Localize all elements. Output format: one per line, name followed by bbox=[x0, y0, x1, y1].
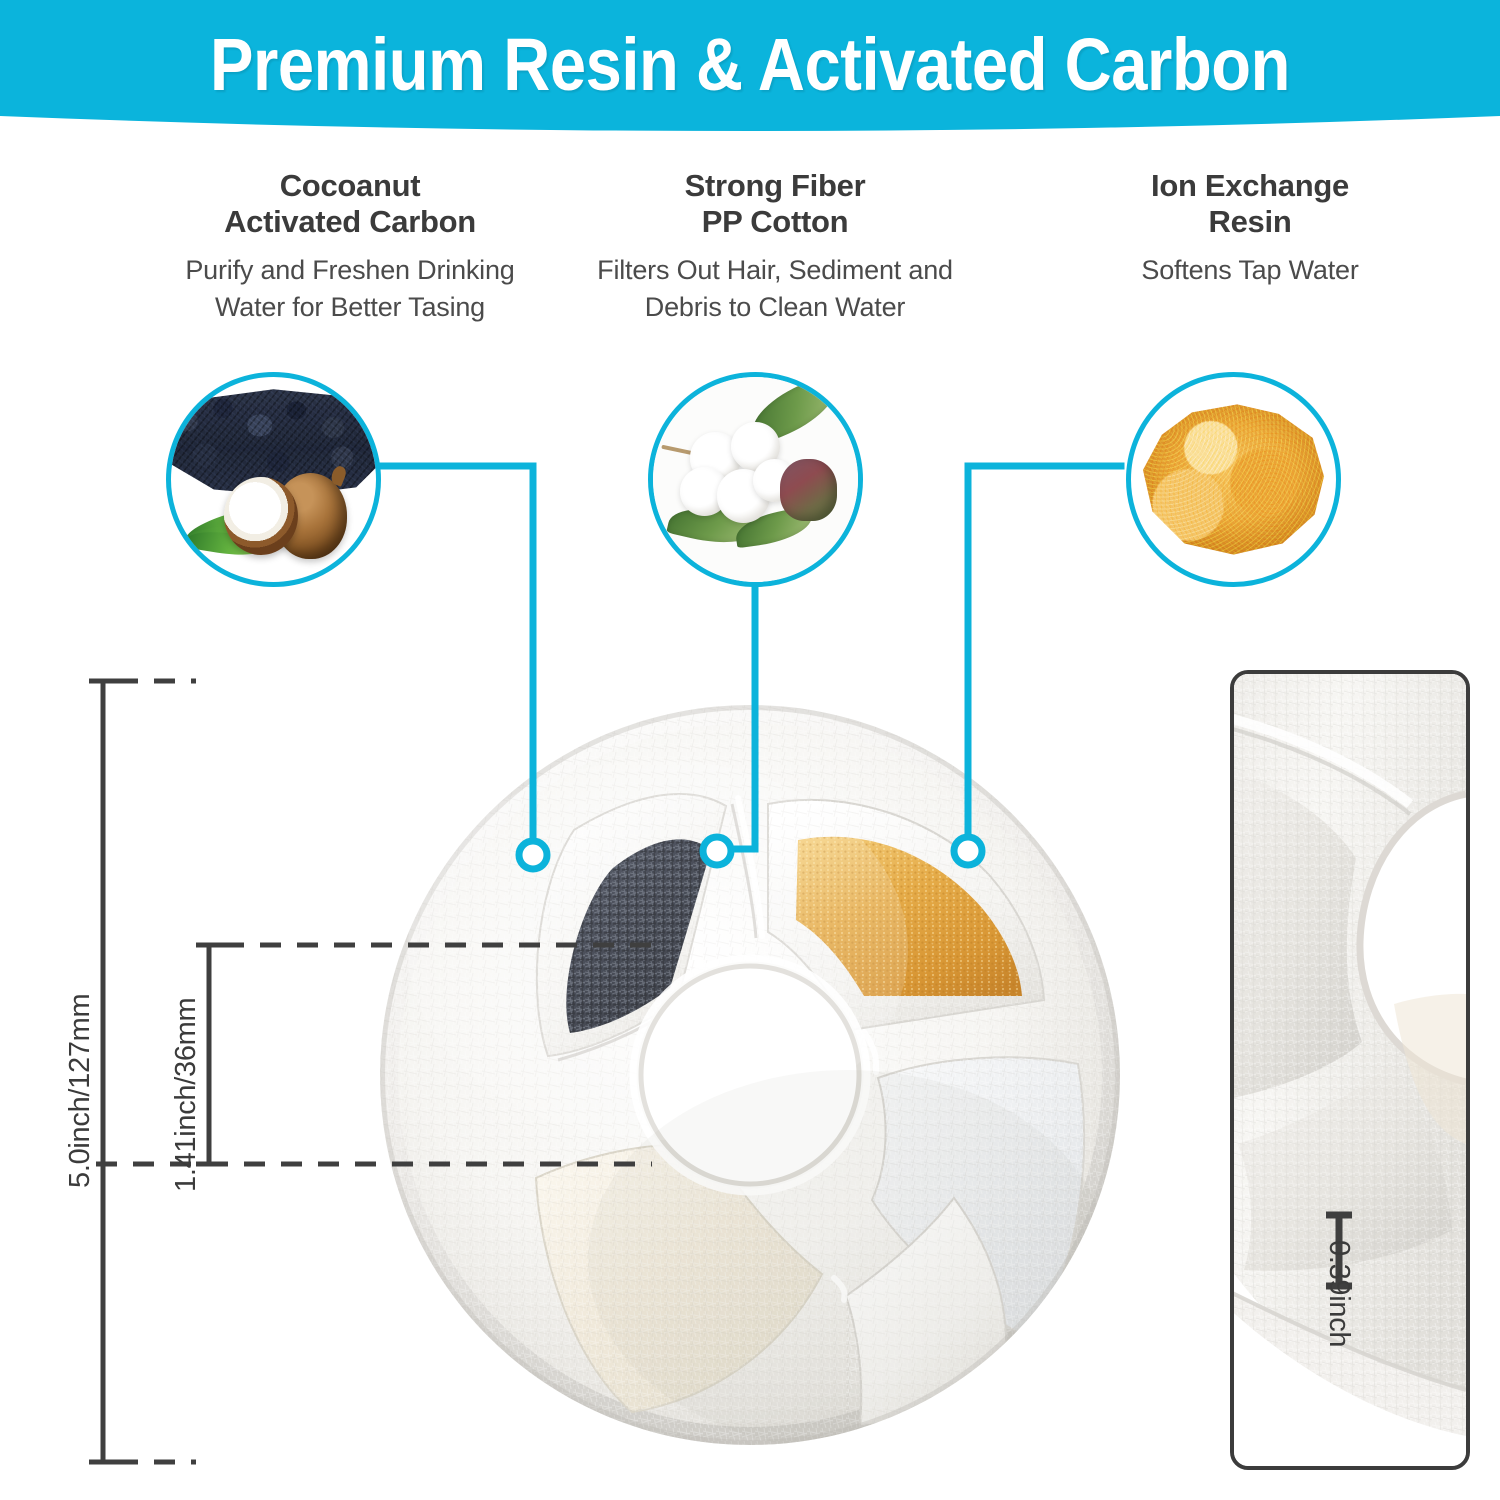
cotton-bud bbox=[780, 459, 837, 521]
filter-disc-graphic bbox=[378, 700, 1123, 1450]
feature-column-pp-cotton: Strong Fiber PP Cotton Filters Out Hair,… bbox=[560, 168, 990, 326]
column-heading-line2: PP Cotton bbox=[560, 204, 990, 240]
outer-dimension-label: 5.0inch/127mm bbox=[64, 994, 97, 1188]
feature-column-ion-exchange-resin: Ion Exchange Resin Softens Tap Water bbox=[1035, 168, 1465, 289]
resin-bead-texture bbox=[1139, 400, 1328, 560]
column-body: Purify and Freshen Drinking Water for Be… bbox=[110, 252, 590, 327]
ion-exchange-resin-photo bbox=[1131, 377, 1336, 582]
column-heading-line2: Activated Carbon bbox=[110, 204, 590, 240]
column-body-line2: Water for Better Tasing bbox=[110, 289, 590, 326]
page-title: Premium Resin & Activated Carbon bbox=[90, 22, 1410, 107]
column-heading-line1: Cocoanut bbox=[110, 168, 590, 204]
column-heading: Ion Exchange Resin bbox=[1035, 168, 1465, 240]
feature-column-activated-carbon: Cocoanut Activated Carbon Purify and Fre… bbox=[110, 168, 590, 326]
activated-carbon-coconut-photo bbox=[171, 377, 376, 582]
column-body: Softens Tap Water bbox=[1035, 252, 1465, 289]
badge-ion-exchange-resin bbox=[1126, 372, 1341, 587]
filter-disc bbox=[378, 700, 1123, 1450]
column-body-line2: Debris to Clean Water bbox=[560, 289, 990, 326]
column-body-line1: Softens Tap Water bbox=[1035, 252, 1465, 289]
badge-pp-cotton bbox=[648, 372, 863, 587]
badge-activated-carbon-coconut bbox=[166, 372, 381, 587]
inner-dimension-label: 1.41inch/36mm bbox=[170, 998, 203, 1192]
infographic-stage: Premium Resin & Activated Carbon Cocoanu… bbox=[0, 0, 1500, 1500]
column-body-line1: Filters Out Hair, Sediment and bbox=[560, 252, 990, 289]
disc-sections bbox=[380, 705, 1120, 1450]
column-heading-line1: Strong Fiber bbox=[560, 168, 990, 204]
coconut-half bbox=[224, 477, 298, 555]
column-body-line1: Purify and Freshen Drinking bbox=[110, 252, 590, 289]
thickness-detail-card bbox=[1230, 670, 1470, 1470]
column-body: Filters Out Hair, Sediment and Debris to… bbox=[560, 252, 990, 327]
header-banner: Premium Resin & Activated Carbon bbox=[0, 0, 1500, 136]
column-heading-line2: Resin bbox=[1035, 204, 1465, 240]
column-heading: Strong Fiber PP Cotton bbox=[560, 168, 990, 240]
column-heading: Cocoanut Activated Carbon bbox=[110, 168, 590, 240]
thickness-dimension-label: 0.39inch bbox=[1322, 1240, 1355, 1347]
cotton-boll-photo bbox=[653, 377, 858, 582]
column-heading-line1: Ion Exchange bbox=[1035, 168, 1465, 204]
